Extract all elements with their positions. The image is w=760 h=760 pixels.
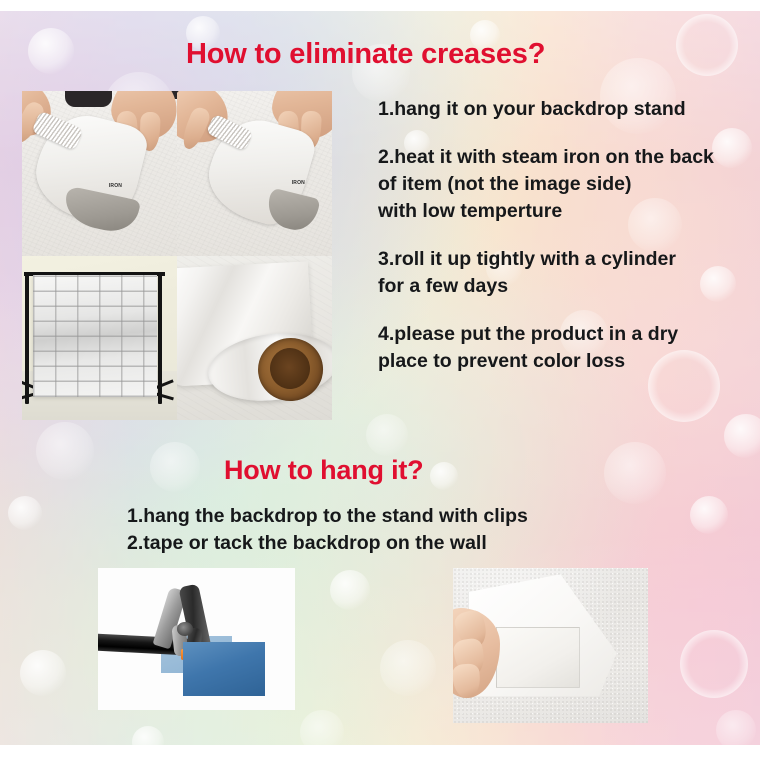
blue-backdrop-cloth: [183, 642, 266, 696]
photo-rolled-backdrop: [177, 256, 332, 421]
photo-steam-iron-left: IRON: [22, 91, 177, 256]
crease-photo-grid: IRON IRON: [22, 91, 332, 420]
crease-step-line: 4.please put the product in a dry: [378, 321, 760, 348]
page-title-eliminate-creases: How to eliminate creases?: [186, 38, 545, 71]
hang-step-line: 1.hang the backdrop to the stand with cl…: [127, 503, 528, 530]
top-white-band: [0, 0, 760, 11]
crease-step-4: 4.please put the product in a dry place …: [378, 321, 760, 375]
crease-step-line: place to prevent color loss: [378, 348, 760, 375]
hang-step-line: 2.tape or tack the backdrop on the wall: [127, 530, 528, 557]
crease-steps-list: 1.hang it on your backdrop stand 2.heat …: [378, 96, 760, 375]
iron-brand-label: IRON: [292, 180, 305, 186]
photo-steam-iron-right: IRON: [177, 91, 332, 256]
crease-step-line: 2.heat it with steam iron on the back: [378, 144, 760, 171]
promo-instruction-graphic: How to eliminate creases? 1.hang it on y…: [0, 0, 760, 760]
dark-background-strip: [65, 91, 112, 107]
crease-step-line: with low temperture: [378, 198, 760, 225]
crease-step-line: for a few days: [378, 273, 760, 300]
photo-spring-clamp: [98, 568, 295, 710]
crease-step-line: of item (not the image side): [378, 171, 760, 198]
crease-step-line: 3.roll it up tightly with a cylinder: [378, 246, 760, 273]
photo-backdrop-on-stand: [22, 256, 177, 421]
photo-adhesive-tack: [453, 568, 648, 723]
clamp-pivot-screw: [177, 622, 193, 636]
iron-brand-label: IRON: [109, 183, 122, 189]
crease-step-3: 3.roll it up tightly with a cylinder for…: [378, 246, 760, 300]
crease-step-2: 2.heat it with steam iron on the back of…: [378, 144, 760, 225]
crease-step-line: 1.hang it on your backdrop stand: [378, 96, 760, 123]
brick-pattern-backdrop-cloth: [33, 275, 157, 397]
hang-steps-list: 1.hang the backdrop to the stand with cl…: [127, 503, 528, 557]
crease-step-1: 1.hang it on your backdrop stand: [378, 96, 760, 123]
bottom-white-band: [0, 745, 760, 760]
adhesive-tack-square: [496, 627, 580, 688]
page-title-how-to-hang: How to hang it?: [224, 455, 423, 486]
